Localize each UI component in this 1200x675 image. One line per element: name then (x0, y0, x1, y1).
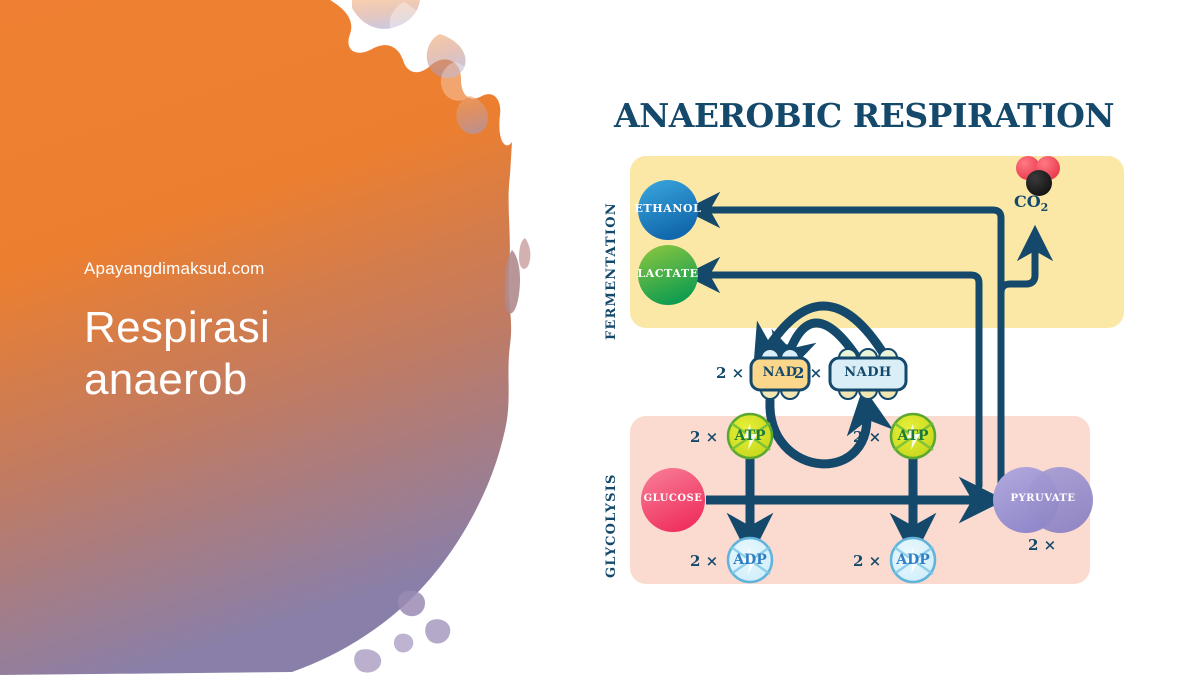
co2-subscript: 2 (1041, 201, 1049, 214)
co2-label-text: CO (1014, 192, 1041, 211)
diagram-graphics (598, 88, 1158, 608)
site-url-label: Apayangdimaksud.com (84, 258, 504, 280)
node-ethanol (638, 180, 698, 240)
page-title-line1: Respirasi (84, 302, 504, 354)
node-glucose (641, 468, 705, 532)
icon-adp-right (891, 538, 935, 582)
node-pyruvate-b (1027, 467, 1093, 533)
slide-canvas: Apayangdimaksud.com Respirasi anaerob AN… (0, 0, 1200, 675)
multiplier-pyruvate: 2 × (1028, 536, 1056, 554)
icon-adp-left (728, 538, 772, 582)
multiplier-atp-right: 2 × (853, 428, 881, 446)
anaerobic-respiration-diagram: ANAEROBIC RESPIRATION FERMENTATION GLYCO… (598, 88, 1158, 608)
left-text-block: Apayangdimaksud.com Respirasi anaerob (84, 258, 504, 406)
multiplier-nadh: 2 × (794, 364, 822, 382)
multiplier-adp-left: 2 × (690, 552, 718, 570)
page-title-line2: anaerob (84, 354, 504, 406)
multiplier-nad: 2 × (716, 364, 744, 382)
page-title: Respirasi anaerob (84, 302, 504, 406)
icon-atp-right (891, 414, 935, 458)
multiplier-atp-left: 2 × (690, 428, 718, 446)
icon-atp-left (728, 414, 772, 458)
co2-label: CO2 (1014, 192, 1048, 214)
multiplier-adp-right: 2 × (853, 552, 881, 570)
node-lactate (638, 245, 698, 305)
chip-label-nadh: NADH (830, 365, 906, 380)
